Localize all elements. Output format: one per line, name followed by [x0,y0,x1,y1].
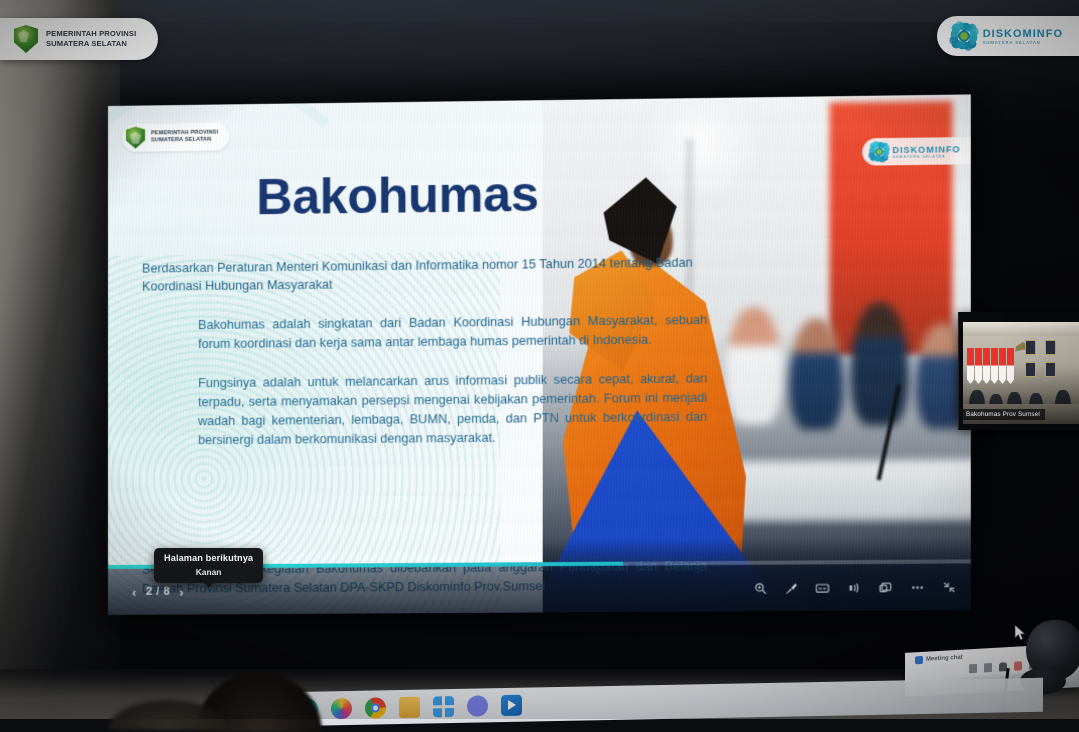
slide-title: Bakohumas [256,165,538,227]
shield-emblem-icon [126,127,145,149]
slide-lead-text: Berdasarkan Peraturan Menteri Komunikasi… [142,254,717,296]
captions-icon[interactable] [815,581,829,594]
slide-toolbar-icons [754,580,956,594]
taskbar-app-photos[interactable] [331,697,352,718]
diskominfo-flower-icon [869,142,888,161]
more-options-icon[interactable] [910,580,924,593]
page-indicator: 2 / 8 [146,586,170,598]
slide-canvas: PEMERINTAH PROVINSI SUMATERA SELATAN DIS… [108,94,971,615]
slide-diskominfo-brand: DISKOMINFO [892,144,960,155]
pip-portrait-frame [1045,362,1056,377]
slide-diskominfo-badge: DISKOMINFO SUMATERA SELATAN [862,137,971,166]
pip-portrait-frame [1025,362,1036,377]
chevron-up-icon[interactable] [969,664,977,673]
taskbar-app-file-explorer[interactable] [399,696,420,717]
overlay-chip-line2: SUMATERA SELATAN [46,39,136,49]
pip-portrait-frame [1025,340,1036,355]
pip-portrait-frame [1045,340,1056,355]
pip-participant-name: Bakohumas Prov Sumsel [961,409,1045,420]
shield-emblem-icon [14,25,38,53]
meeting-chat-window[interactable]: Meeting chat [915,654,963,665]
overlay-diskominfo-brand: DISKOMINFO [983,28,1063,40]
photo-light-glare [640,94,762,191]
teams-chat-icon [915,656,923,664]
pip-flags [967,348,1014,384]
overlay-government-chip: PEMERINTAH PROVINSI SUMATERA SELATAN [0,18,158,60]
prev-slide-button[interactable]: ‹ [132,584,137,599]
taskbar-app-microsoft-store[interactable] [433,696,454,717]
slide-paragraph-2: Fungsinya adalah untuk melancarkan arus … [198,369,707,450]
slide-body: Berdasarkan Peraturan Menteri Komunikasi… [142,254,717,451]
taskbar-app-media-player[interactable] [501,694,522,715]
taskbar-app-teams[interactable] [467,695,488,716]
taskbar-app-chrome[interactable] [365,697,386,718]
overlay-diskominfo-sub: SUMATERA SELATAN [983,40,1063,45]
laser-pointer-icon[interactable] [785,581,798,594]
slide-paragraph-1: Bakohumas adalah singkatan dari Badan Ko… [198,311,707,355]
next-slide-button[interactable]: › [179,584,184,599]
wall-panel-left [0,0,120,719]
tooltip-shortcut: Kanan [164,567,253,577]
zoom-icon[interactable] [754,581,767,594]
diskominfo-flower-icon [951,23,977,49]
present-window-icon[interactable] [879,581,893,594]
exit-fullscreen-icon[interactable] [942,580,956,593]
participant-video-tile[interactable]: Bakohumas Prov Sumsel [958,312,1079,430]
tooltip-title: Halaman berikutnya [164,553,253,563]
next-slide-tooltip: Halaman berikutnya Kanan [154,548,263,583]
slide-diskominfo-sub: SUMATERA SELATAN [892,154,960,159]
slide-badge-line2: SUMATERA SELATAN [151,137,218,145]
pip-meeting-room [963,322,1079,422]
camera-icon[interactable] [984,663,992,672]
presentation-display[interactable]: PEMERINTAH PROVINSI SUMATERA SELATAN DIS… [108,94,971,615]
overlay-chip-line1: PEMERINTAH PROVINSI [46,29,136,39]
meeting-chat-title: Meeting chat [926,655,963,663]
record-icon[interactable] [1014,661,1022,670]
overlay-diskominfo-chip: DISKOMINFO SUMATERA SELATAN [937,16,1079,56]
audio-icon[interactable] [847,581,861,594]
slide-government-badge: PEMERINTAH PROVINSI SUMATERA SELATAN [122,122,229,151]
slide-pager: ‹ 2 / 8 › [132,584,184,599]
mouse-cursor [1014,624,1027,647]
pip-ceiling [963,322,1079,336]
